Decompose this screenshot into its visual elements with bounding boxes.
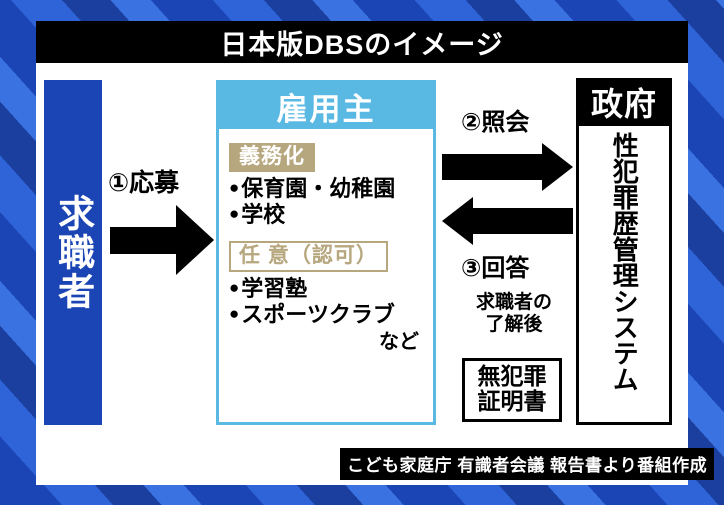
government-header-label: 政府	[591, 79, 657, 125]
page-title-text: 日本版DBSのイメージ	[220, 23, 503, 62]
optional-section: 任 意（認可） 学習塾 スポーツクラブ など	[229, 241, 423, 354]
list-item: 学校	[229, 202, 423, 228]
certificate-box: 無犯罪 証明書	[462, 358, 562, 422]
arrow-shaft	[470, 208, 573, 234]
arrow-shaft	[110, 227, 180, 254]
page-title: 日本版DBSのイメージ	[36, 21, 688, 63]
list-item: スポーツクラブ	[229, 302, 423, 328]
mandatory-badge: 義務化	[229, 143, 315, 172]
mandatory-list: 保育園・幼稚園 学校	[229, 176, 423, 227]
optional-suffix: など	[229, 325, 423, 354]
referral-step-label: ②照会	[461, 102, 529, 137]
list-item: 保育園・幼稚園	[229, 176, 423, 202]
government-header: 政府	[576, 78, 672, 126]
certificate-line1: 無犯罪	[465, 364, 559, 389]
certificate-line2: 証明書	[465, 389, 559, 414]
government-system-label: 性犯罪歴管理システム	[611, 132, 638, 392]
arrow-head	[442, 197, 473, 245]
reply-arrow-left-icon	[442, 197, 573, 245]
infographic-canvas: 日本版DBSのイメージ 求職者 ①応募 雇用主 義務化 保育園・幼稚園 学校 任…	[0, 0, 724, 505]
mandatory-section: 義務化 保育園・幼稚園 学校	[229, 143, 423, 227]
government-box: 政府 性犯罪歴管理システム	[576, 78, 672, 425]
jobseeker-label: 求職者	[53, 194, 92, 311]
referral-arrow-right-icon	[442, 143, 573, 191]
consent-note-line2: 了解後	[462, 314, 566, 336]
optional-list: 学習塾 スポーツクラブ	[229, 276, 423, 327]
consent-note: 求職者の 了解後	[462, 292, 566, 337]
optional-badge: 任 意（認可）	[229, 241, 388, 272]
employer-header-label: 雇用主	[277, 84, 376, 129]
government-body: 性犯罪歴管理システム	[576, 126, 672, 425]
list-item: 学習塾	[229, 276, 423, 302]
employer-body: 義務化 保育園・幼稚園 学校 任 意（認可） 学習塾 スポーツクラブ など	[219, 129, 433, 354]
source-credit: こども家庭庁 有識者会議 報告書より番組作成	[340, 448, 714, 480]
consent-note-line1: 求職者の	[462, 292, 566, 314]
employer-header: 雇用主	[219, 83, 433, 129]
employer-panel: 雇用主 義務化 保育園・幼稚園 学校 任 意（認可） 学習塾 スポーツクラブ な…	[216, 80, 436, 425]
arrow-head	[542, 143, 573, 191]
arrow-head	[176, 205, 214, 275]
arrow-shaft	[442, 154, 545, 180]
apply-step-label: ①応募	[108, 163, 179, 199]
apply-arrow-right-icon	[110, 205, 214, 275]
jobseeker-box: 求職者	[44, 80, 102, 425]
reply-step-label: ③回答	[461, 248, 529, 283]
